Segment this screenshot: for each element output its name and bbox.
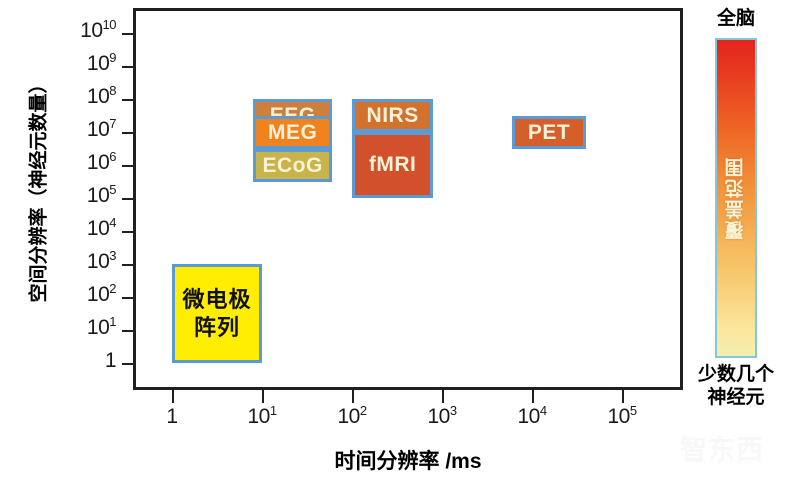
- colorbar-bottom-line-1: 少数几个: [666, 364, 800, 387]
- watermark-subtext: zhidx.com: [652, 458, 792, 468]
- x-axis-tick: [442, 390, 444, 403]
- y-axis-tick-label: 103: [52, 250, 116, 274]
- data-box-pet: PET: [512, 116, 586, 149]
- x-axis-tick-label: 105: [587, 405, 657, 429]
- x-axis-tick-label: 102: [317, 405, 387, 429]
- x-axis-tick-label: 101: [227, 405, 297, 429]
- y-axis-tick-label: 105: [52, 184, 116, 208]
- x-axis-tick: [262, 390, 264, 403]
- data-box-微电极阵列: 微电极阵列: [172, 264, 262, 363]
- colorbar-axis-label: 覆盖范围: [723, 156, 750, 240]
- data-box-fmri: fMRI: [352, 132, 433, 198]
- data-box-ecog: ECoG: [253, 149, 332, 182]
- data-box-label-line: 微电极: [182, 286, 251, 314]
- data-box-meg: MEG: [253, 116, 332, 149]
- x-axis-tick-label: 103: [407, 405, 477, 429]
- x-axis-tick: [532, 390, 534, 403]
- y-axis-tick-label: 101: [52, 316, 116, 340]
- x-axis-tick-label: 104: [497, 405, 567, 429]
- colorbar-bottom-line-2: 神经元: [666, 387, 800, 410]
- y-axis-tick-label: 106: [52, 151, 116, 175]
- data-box-label-line: 阵列: [194, 314, 240, 342]
- x-axis-tick: [622, 390, 624, 403]
- data-box-label: NIRS: [367, 104, 419, 128]
- data-box-label: fMRI: [369, 153, 417, 177]
- y-axis-tick-label: 102: [52, 283, 116, 307]
- y-axis-tick-label: 1010: [52, 19, 116, 43]
- chart-canvas: 空间分辨率（神经元数量） 101010910810710610510410310…: [0, 0, 800, 478]
- colorbar-top-label: 全脑: [666, 8, 800, 31]
- y-axis-tick-label: 1: [52, 349, 116, 373]
- data-box-label: PET: [528, 121, 570, 145]
- colorbar-legend: 全脑 覆盖范围 少数几个 神经元: [715, 38, 757, 358]
- colorbar-bottom-label: 少数几个 神经元: [666, 364, 800, 410]
- data-box-label: ECoG: [262, 154, 322, 178]
- x-axis-tick: [172, 390, 174, 403]
- watermark-text: 智东西: [652, 428, 792, 467]
- colorbar-gradient: 覆盖范围: [715, 38, 757, 358]
- x-axis-tick: [352, 390, 354, 403]
- x-axis-title: 时间分辨率 /ms: [268, 445, 548, 475]
- y-axis-tick-label: 109: [52, 52, 116, 76]
- y-axis-tick-label: 108: [52, 85, 116, 109]
- y-axis-tick-label: 107: [52, 118, 116, 142]
- y-axis-title: 空间分辨率（神经元数量）: [24, 49, 51, 329]
- watermark: 智东西 zhidx.com: [652, 424, 792, 472]
- x-axis-tick-label: 1: [137, 405, 207, 429]
- data-box-label: MEG: [268, 121, 317, 145]
- y-axis-tick-label: 104: [52, 217, 116, 241]
- data-box-nirs: NIRS: [352, 99, 433, 132]
